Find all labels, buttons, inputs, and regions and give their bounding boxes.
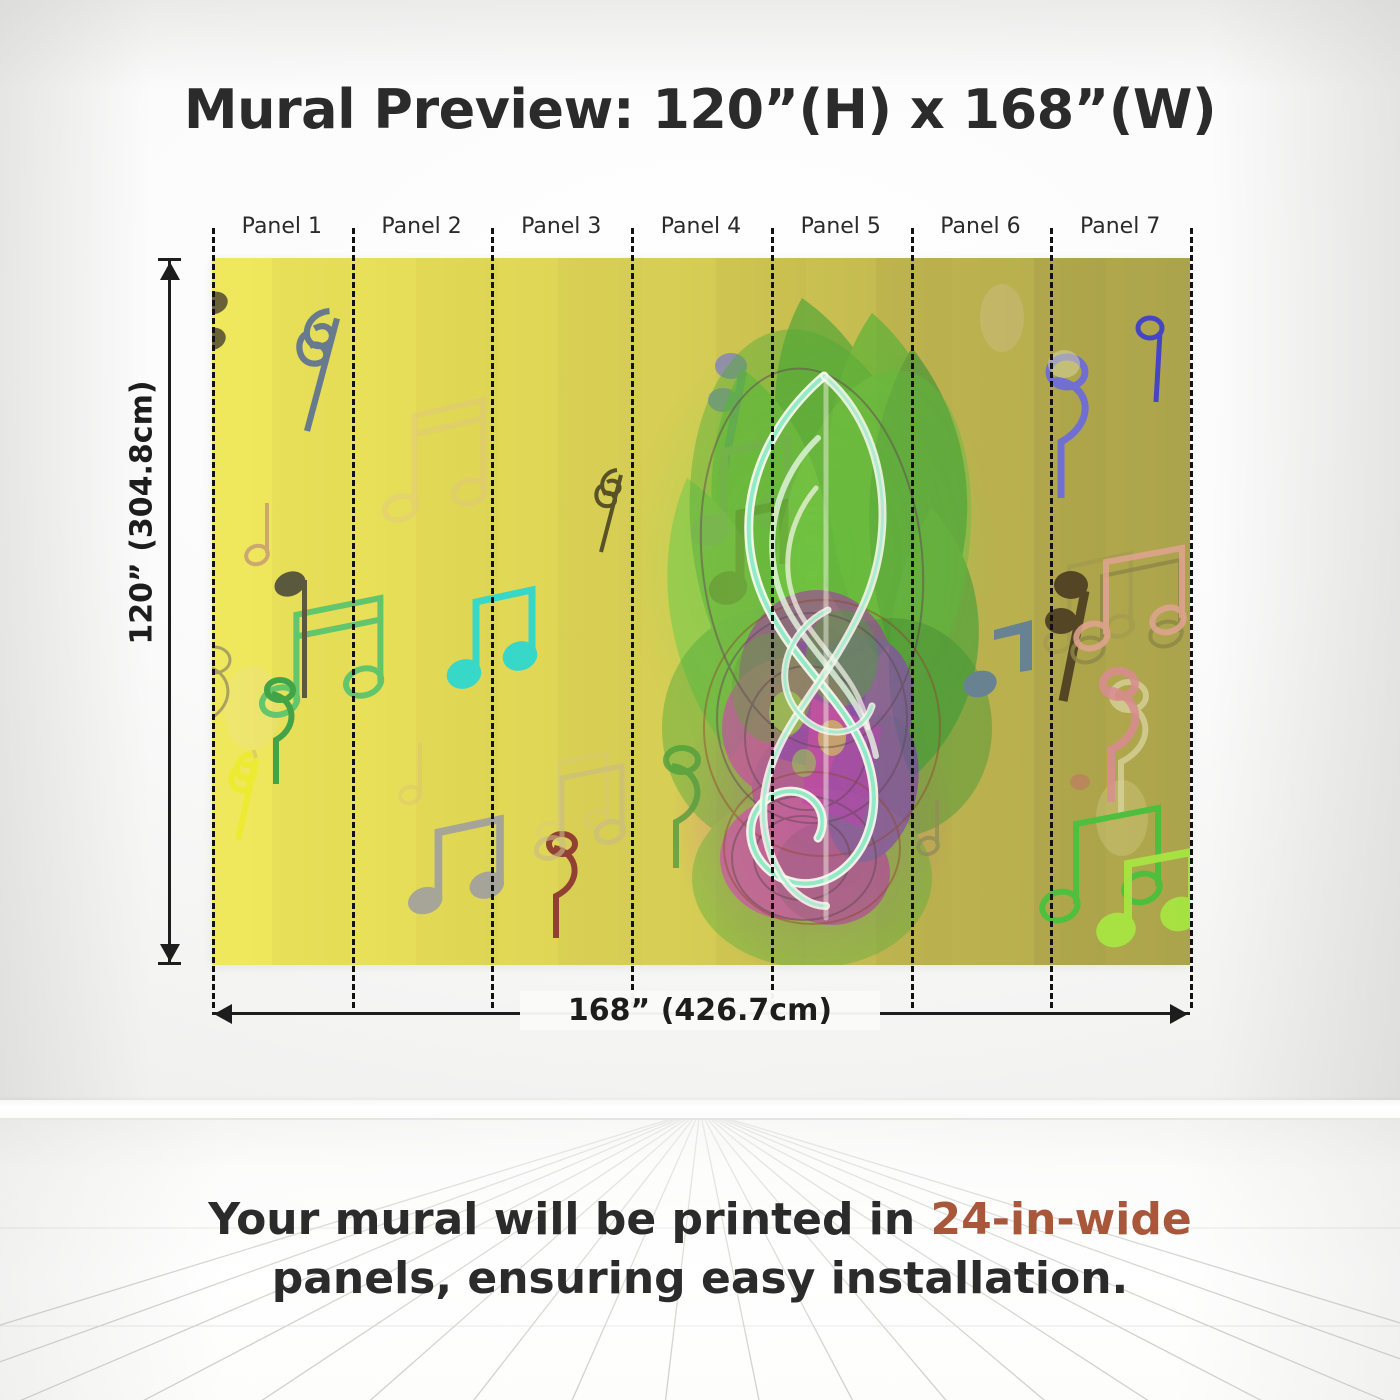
height-dimension-label: 120” (304.8cm) bbox=[125, 353, 160, 673]
height-arrow-down-icon bbox=[160, 944, 180, 962]
wall-shadow-top bbox=[0, 0, 1400, 90]
width-dimension-label: 168” (426.7cm) bbox=[520, 991, 880, 1030]
panel-label-1: Panel 1 bbox=[212, 214, 352, 239]
caption-line-1: Your mural will be printed in 24-in-wide bbox=[0, 1190, 1400, 1249]
height-dimension-line bbox=[168, 258, 171, 965]
panel-divider-3 bbox=[631, 228, 634, 1008]
panel-label-6: Panel 6 bbox=[911, 214, 1051, 239]
panel-label-3: Panel 3 bbox=[491, 214, 631, 239]
panel-label-7: Panel 7 bbox=[1050, 214, 1190, 239]
panel-divider-left-edge bbox=[212, 228, 215, 1008]
width-arrow-left-icon bbox=[214, 1004, 232, 1024]
wall-shadow-right bbox=[1210, 0, 1400, 1120]
mural-preview-screenshot: Mural Preview: 120”(H) x 168”(W) Panel 1… bbox=[0, 0, 1400, 1400]
page-title: Mural Preview: 120”(H) x 168”(W) bbox=[0, 78, 1400, 141]
panel-divider-right-edge bbox=[1190, 228, 1193, 1008]
panel-divider-1 bbox=[352, 228, 355, 1008]
height-tick-top bbox=[158, 258, 181, 261]
height-tick-bottom bbox=[158, 962, 181, 965]
caption-line-2: panels, ensuring easy installation. bbox=[0, 1249, 1400, 1308]
panel-label-5: Panel 5 bbox=[771, 214, 911, 239]
panel-label-4: Panel 4 bbox=[631, 214, 771, 239]
height-arrow-up-icon bbox=[160, 262, 180, 280]
caption-line-1-text: Your mural will be printed in bbox=[208, 1194, 930, 1245]
caption-highlight: 24-in-wide bbox=[931, 1194, 1192, 1245]
panel-divider-5 bbox=[911, 228, 914, 1008]
panel-divider-6 bbox=[1050, 228, 1053, 1008]
panel-divider-4 bbox=[771, 228, 774, 1008]
width-arrow-right-icon bbox=[1170, 1004, 1188, 1024]
mural-artwork bbox=[212, 258, 1190, 965]
panel-label-2: Panel 2 bbox=[352, 214, 492, 239]
panel-label-row: Panel 1 Panel 2 Panel 3 Panel 4 Panel 5 … bbox=[212, 214, 1190, 250]
caption: Your mural will be printed in 24-in-wide… bbox=[0, 1190, 1400, 1309]
panel-divider-2 bbox=[491, 228, 494, 1008]
